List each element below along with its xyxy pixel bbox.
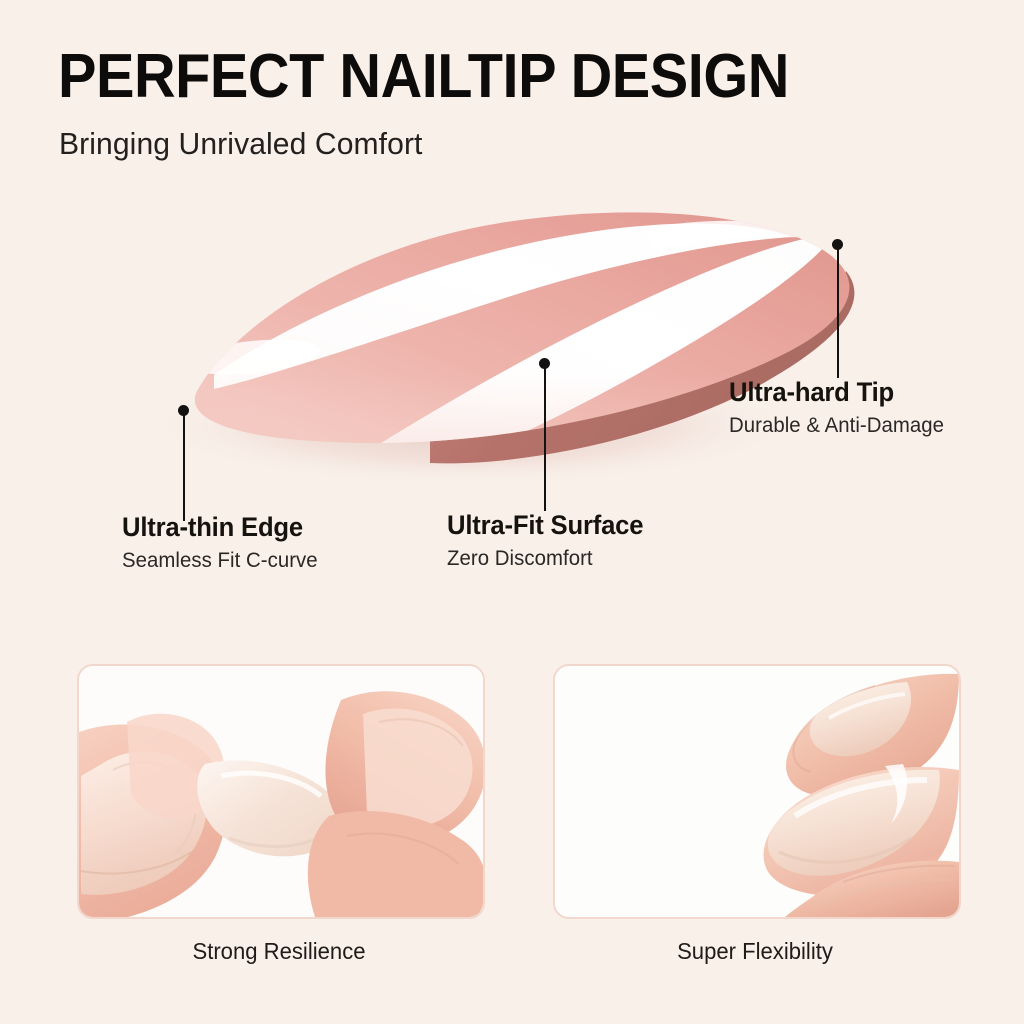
nail-tip-illustration	[0, 175, 1024, 505]
page-title: PERFECT NAILTIP DESIGN	[58, 44, 789, 110]
callout-title: Ultra-thin Edge	[122, 512, 303, 543]
fingers-bending-nail-tip-photo	[79, 666, 483, 917]
callout-subtitle: Seamless Fit C-curve	[122, 549, 318, 573]
infographic-root: PERFECT NAILTIP DESIGN Bringing Unrivale…	[0, 0, 1024, 1024]
card-caption-super-flexibility: Super Flexibility	[561, 938, 949, 965]
card-super-flexibility	[553, 664, 961, 919]
callout-subtitle: Durable & Anti-Damage	[729, 414, 944, 438]
card-strong-resilience	[77, 664, 485, 919]
callout-title: Ultra-hard Tip	[729, 377, 894, 408]
callout-subtitle: Zero Discomfort	[447, 547, 593, 571]
callout-title: Ultra-Fit Surface	[447, 510, 643, 541]
page-subtitle: Bringing Unrivaled Comfort	[59, 126, 423, 162]
card-caption-strong-resilience: Strong Resilience	[85, 938, 473, 965]
callout-leader-line	[544, 364, 546, 511]
callout-leader-line	[183, 411, 185, 521]
callout-leader-line	[837, 245, 839, 378]
fingers-flexing-nail-tip-photo	[555, 666, 959, 917]
